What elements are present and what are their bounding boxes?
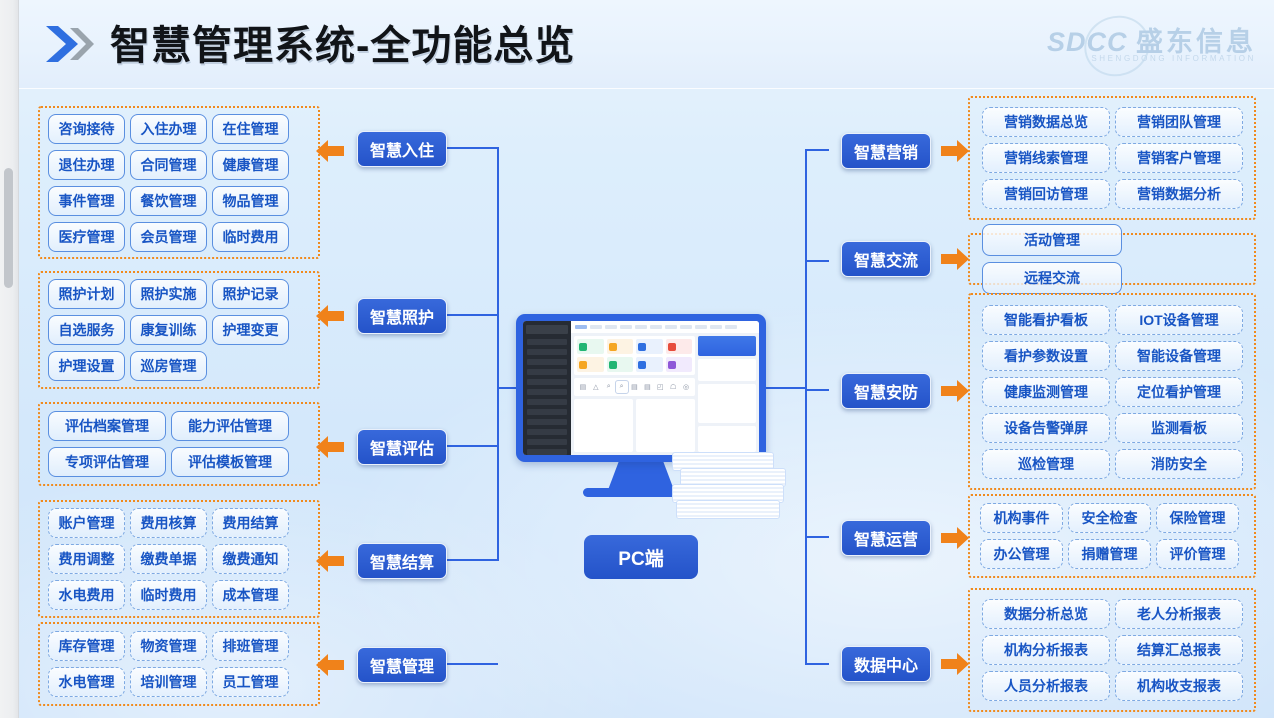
branch-label-smart-management[interactable]: 智慧管理 [357,647,447,683]
branch-label-smart-checkin[interactable]: 智慧入住 [357,131,447,167]
feature-chip[interactable]: 设备告警弹屏 [982,413,1110,443]
branch-label-smart-care[interactable]: 智慧照护 [357,298,447,334]
branch-label-smart-settlement[interactable]: 智慧结算 [357,543,447,579]
dashboard-sidebar [523,321,571,455]
feature-chip[interactable]: 老人分析报表 [1115,599,1243,629]
feature-chip[interactable]: 费用结算 [212,508,289,538]
feature-chip[interactable]: 监测看板 [1115,413,1243,443]
feature-chip[interactable]: 库存管理 [48,631,125,661]
group-box-smart-operations: 机构事件 安全检查 保险管理 办公管理 捐赠管理 评价管理 [968,494,1256,578]
feature-chip[interactable]: 水电管理 [48,667,125,697]
feature-chip[interactable]: 事件管理 [48,186,125,216]
arrow-left-icon [316,434,344,460]
feature-chip[interactable]: 评估模板管理 [171,447,289,477]
arrow-right-icon [941,246,969,272]
feature-chip[interactable]: 专项评估管理 [48,447,166,477]
feature-chip[interactable]: 巡检管理 [982,449,1110,479]
feature-chip[interactable]: 入住办理 [130,114,207,144]
dashboard-panel [574,399,633,452]
feature-chip[interactable]: 康复训练 [130,315,207,345]
feature-chip[interactable]: 餐饮管理 [130,186,207,216]
feature-chip[interactable]: 安全检查 [1068,503,1151,533]
branch-label-smart-security[interactable]: 智慧安防 [841,373,931,409]
feature-chip[interactable]: 评估档案管理 [48,411,166,441]
device-label-pc[interactable]: PC端 [584,535,698,579]
feature-chip[interactable]: 在住管理 [212,114,289,144]
feature-chip[interactable]: 活动管理 [982,224,1122,256]
functional-overview-page: 智慧管理系统-全功能总览 SDCC 盛东信息 SHENGDONG INFORMA… [0,0,1274,718]
feature-chip[interactable]: 水电费用 [48,580,125,610]
branch-label-smart-operations[interactable]: 智慧运营 [841,520,931,556]
feature-chip[interactable]: 费用调整 [48,544,125,574]
feature-chip[interactable]: 医疗管理 [48,222,125,252]
feature-chip[interactable]: 照护计划 [48,279,125,309]
feature-chip[interactable]: 结算汇总报表 [1115,635,1243,665]
group-box-smart-management: 库存管理 物资管理 排班管理 水电管理 培训管理 员工管理 [38,622,320,706]
branch-label-smart-assessment[interactable]: 智慧评估 [357,429,447,465]
feature-chip[interactable]: 消防安全 [1115,449,1243,479]
feature-chip[interactable]: 成本管理 [212,580,289,610]
feature-chip[interactable]: 数据分析总览 [982,599,1110,629]
group-box-smart-marketing: 营销数据总览 营销团队管理 营销线索管理 营销客户管理 营销回访管理 营销数据分… [968,96,1256,220]
feature-chip[interactable]: IOT设备管理 [1115,305,1243,335]
feature-chip[interactable]: 营销数据总览 [982,107,1110,137]
arrow-left-icon [316,138,344,164]
dashboard-user-card [698,336,756,356]
dashboard-main: ▤△⌕ ⌕▤▤ ◰☖◎ [571,321,759,455]
feature-chip[interactable]: 临时费用 [212,222,289,252]
arrow-left-icon [316,652,344,678]
page-scrollbar[interactable] [0,0,19,718]
dashboard-tabbar [571,321,759,333]
feature-chip[interactable]: 物资管理 [130,631,207,661]
dashboard-preview: ▤△⌕ ⌕▤▤ ◰☖◎ [523,321,759,455]
feature-chip[interactable]: 缴费单据 [130,544,207,574]
feature-chip[interactable]: 账户管理 [48,508,125,538]
stacked-books-icon [672,452,784,522]
feature-chip[interactable]: 缴费通知 [212,544,289,574]
feature-chip[interactable]: 护理设置 [48,351,125,381]
feature-chip[interactable]: 智能设备管理 [1115,341,1243,371]
group-box-smart-communication: 活动管理 远程交流 [968,233,1256,285]
feature-chip[interactable]: 巡房管理 [130,351,207,381]
feature-chip[interactable]: 照护记录 [212,279,289,309]
feature-chip[interactable]: 保险管理 [1156,503,1239,533]
feature-chip[interactable]: 物品管理 [212,186,289,216]
feature-chip[interactable]: 机构收支报表 [1115,671,1243,701]
feature-chip[interactable]: 定位看护管理 [1115,377,1243,407]
dashboard-panel [698,359,756,381]
feature-chip[interactable]: 健康管理 [212,150,289,180]
feature-chip[interactable]: 机构分析报表 [982,635,1110,665]
dashboard-tiles [574,336,695,375]
feature-chip[interactable]: 机构事件 [980,503,1063,533]
branch-label-data-center[interactable]: 数据中心 [841,646,931,682]
feature-chip[interactable]: 排班管理 [212,631,289,661]
group-box-smart-care: 照护计划 照护实施 照护记录 自选服务 康复训练 护理变更 护理设置 巡房管理 [38,271,320,389]
arrow-left-icon [316,303,344,329]
feature-chip[interactable]: 办公管理 [980,539,1063,569]
branch-label-smart-communication[interactable]: 智慧交流 [841,241,931,277]
feature-chip[interactable]: 培训管理 [130,667,207,697]
feature-chip[interactable]: 健康监测管理 [982,377,1110,407]
arrow-left-icon [316,548,344,574]
arrow-right-icon [941,138,969,164]
feature-chip[interactable]: 照护实施 [130,279,207,309]
branch-label-smart-marketing[interactable]: 智慧营销 [841,133,931,169]
feature-chip[interactable]: 远程交流 [982,262,1122,294]
feature-chip[interactable]: 人员分析报表 [982,671,1110,701]
group-box-smart-settlement: 账户管理 费用核算 费用结算 费用调整 缴费单据 缴费通知 水电费用 临时费用 … [38,500,320,618]
dashboard-panel [698,426,756,452]
group-box-smart-checkin: 咨询接待 入住办理 在住管理 退住办理 合同管理 健康管理 事件管理 餐饮管理 … [38,106,320,259]
arrow-right-icon [941,378,969,404]
feature-chip[interactable]: 营销线索管理 [982,143,1110,173]
feature-chip[interactable]: 评价管理 [1156,539,1239,569]
feature-chip[interactable]: 看护参数设置 [982,341,1110,371]
feature-chip[interactable]: 护理变更 [212,315,289,345]
group-box-smart-assessment: 评估档案管理 能力评估管理 专项评估管理 评估模板管理 [38,402,320,486]
desktop-monitor-icon: ▤△⌕ ⌕▤▤ ◰☖◎ [516,314,766,462]
feature-chip[interactable]: 捐赠管理 [1068,539,1151,569]
feature-chip[interactable]: 营销回访管理 [982,179,1110,209]
monitor-stand [608,462,674,490]
feature-chip[interactable]: 能力评估管理 [171,411,289,441]
scrollbar-thumb[interactable] [4,168,13,288]
dashboard-panel [636,399,695,452]
group-box-data-center: 数据分析总览 老人分析报表 机构分析报表 结算汇总报表 人员分析报表 机构收支报… [968,588,1256,712]
feature-chip[interactable]: 营销团队管理 [1115,107,1243,137]
dashboard-shortcuts: ▤△⌕ ⌕▤▤ ◰☖◎ [574,378,695,396]
group-box-smart-security: 智能看护看板 IOT设备管理 看护参数设置 智能设备管理 健康监测管理 定位看护… [968,293,1256,490]
feature-chip[interactable]: 咨询接待 [48,114,125,144]
feature-chip[interactable]: 临时费用 [130,580,207,610]
feature-chip[interactable]: 会员管理 [130,222,207,252]
arrow-right-icon [941,525,969,551]
feature-chip[interactable]: 合同管理 [130,150,207,180]
feature-chip[interactable]: 营销客户管理 [1115,143,1243,173]
feature-chip[interactable]: 自选服务 [48,315,125,345]
feature-chip[interactable]: 营销数据分析 [1115,179,1243,209]
dashboard-panel [698,384,756,423]
arrow-right-icon [941,651,969,677]
feature-chip[interactable]: 智能看护看板 [982,305,1110,335]
feature-chip[interactable]: 员工管理 [212,667,289,697]
feature-chip[interactable]: 费用核算 [130,508,207,538]
feature-chip[interactable]: 退住办理 [48,150,125,180]
